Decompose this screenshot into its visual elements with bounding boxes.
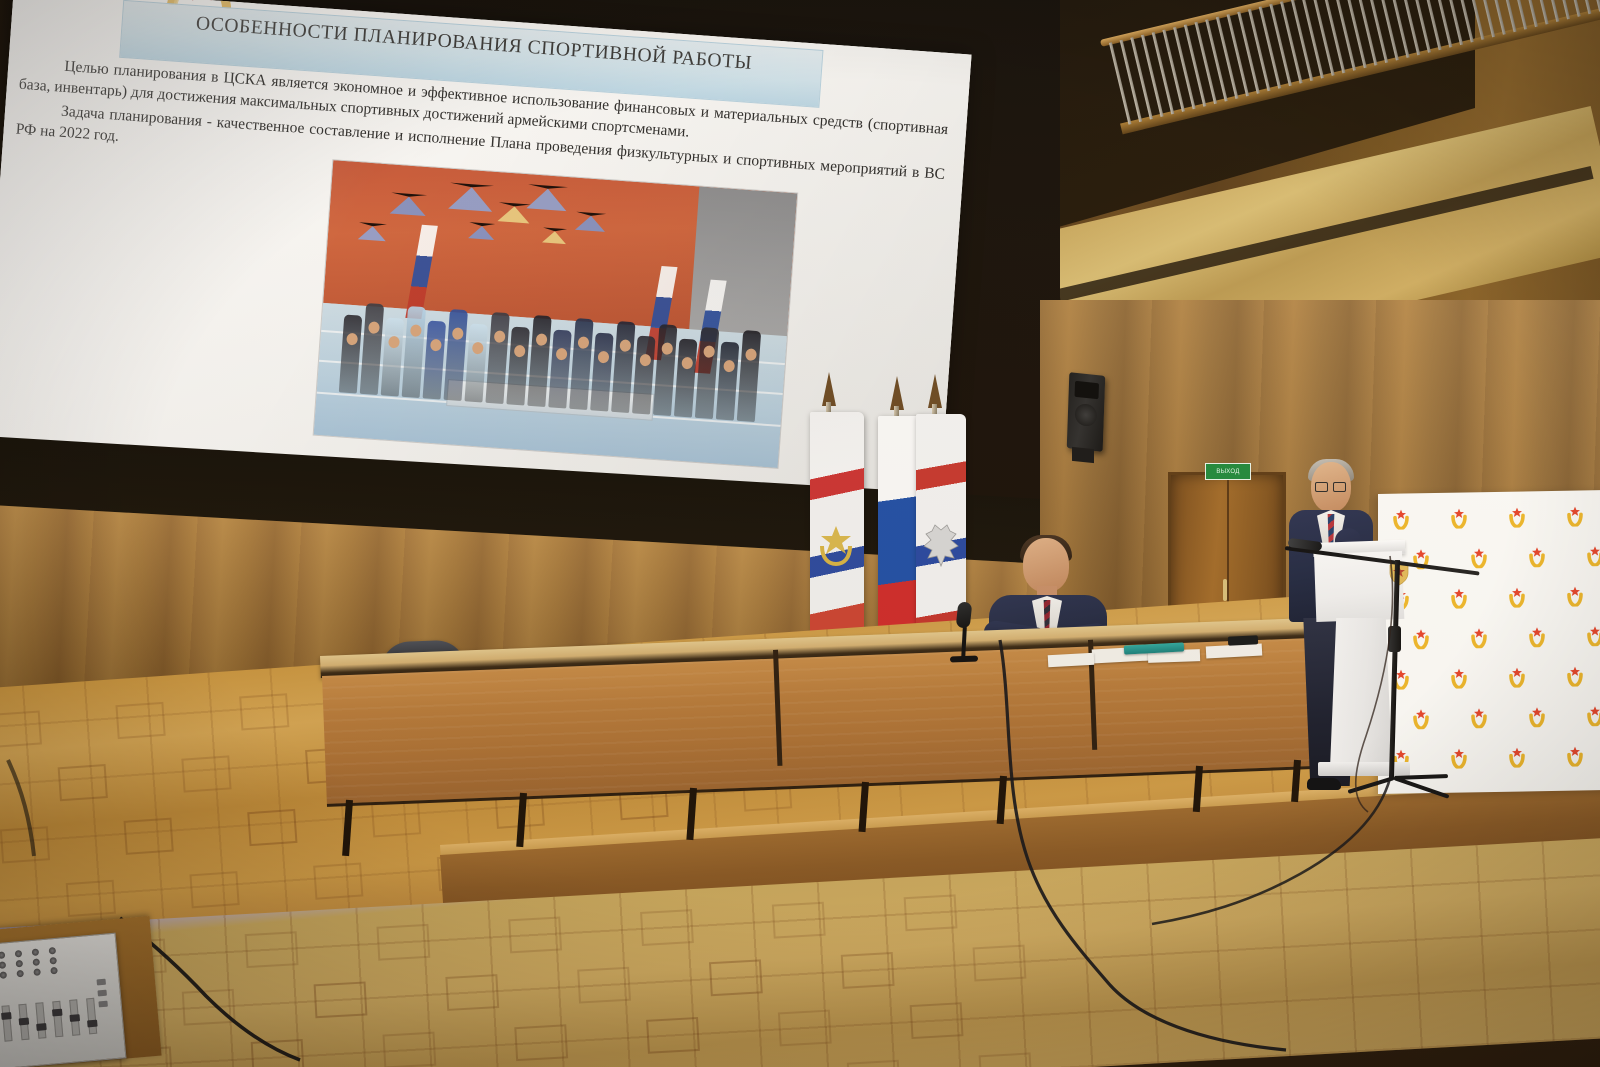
microphone-stand-clutch bbox=[1388, 626, 1401, 652]
backdrop-cska-emblem bbox=[1508, 507, 1526, 527]
backdrop-cska-emblem bbox=[1566, 586, 1584, 606]
door-handle[interactable] bbox=[1223, 579, 1227, 601]
photo-decor-triangle bbox=[390, 192, 427, 216]
photo-decor-triangle bbox=[542, 227, 567, 244]
railing-baluster bbox=[1227, 14, 1250, 96]
backdrop-cska-emblem bbox=[1470, 548, 1488, 568]
mixer-fader[interactable] bbox=[52, 1001, 63, 1038]
backdrop-cska-emblem bbox=[1470, 708, 1488, 728]
railing-baluster bbox=[1280, 1, 1303, 83]
parquet-inlay bbox=[841, 952, 895, 989]
parquet-inlay bbox=[239, 693, 289, 730]
backdrop-cska-emblem bbox=[1566, 666, 1584, 686]
photo-decor-triangle bbox=[448, 183, 494, 212]
flag-finial-1 bbox=[822, 372, 836, 406]
parquet-inlay bbox=[973, 945, 1027, 982]
railing-baluster bbox=[1162, 29, 1185, 111]
photo-decor-triangle bbox=[358, 222, 387, 241]
parquet-inlay bbox=[847, 1060, 901, 1067]
railing-baluster bbox=[1195, 22, 1218, 104]
backdrop-cska-emblem bbox=[1586, 546, 1600, 566]
mixer-button[interactable] bbox=[98, 1001, 107, 1008]
wall-loudspeaker bbox=[1067, 372, 1106, 452]
backdrop-cska-emblem bbox=[1412, 629, 1430, 649]
backdrop-cska-emblem bbox=[1470, 628, 1488, 648]
parquet-inlay bbox=[382, 1032, 436, 1067]
mixer-knob[interactable] bbox=[16, 970, 24, 978]
railing-baluster bbox=[1269, 4, 1292, 86]
railing-baluster bbox=[1130, 37, 1153, 119]
eyeglasses-icon bbox=[1315, 482, 1345, 490]
railing-baluster bbox=[1120, 40, 1143, 122]
backdrop-cska-emblem bbox=[1450, 748, 1468, 768]
mixer-knob[interactable] bbox=[33, 968, 41, 976]
photo-decor-triangle bbox=[468, 222, 495, 240]
parquet-inlay bbox=[66, 880, 116, 917]
mixer-knob[interactable] bbox=[15, 950, 23, 958]
parquet-inlay bbox=[577, 967, 631, 1004]
backdrop-cska-emblem bbox=[1450, 668, 1468, 688]
parquet-inlay bbox=[189, 871, 239, 908]
double-headed-eagle-emblem bbox=[920, 522, 962, 574]
podium-column bbox=[1330, 618, 1392, 768]
mixer-fader[interactable] bbox=[86, 998, 97, 1035]
parquet-inlay bbox=[709, 959, 763, 996]
railing-baluster bbox=[1301, 0, 1324, 78]
backdrop-cska-emblem bbox=[1508, 747, 1526, 767]
parquet-inlay bbox=[646, 1017, 700, 1054]
parquet-inlay bbox=[0, 826, 50, 863]
mixer-knob[interactable] bbox=[0, 961, 6, 969]
audio-mixer-console[interactable] bbox=[0, 933, 126, 1067]
railing-baluster bbox=[1173, 27, 1196, 109]
table-papers bbox=[1048, 653, 1095, 667]
mixer-knob[interactable] bbox=[49, 947, 57, 955]
parquet-inlay bbox=[508, 916, 562, 953]
parquet-inlay bbox=[245, 931, 299, 968]
backdrop-cska-emblem bbox=[1412, 709, 1430, 729]
seated-person-head bbox=[1023, 538, 1069, 592]
backdrop-cska-emblem bbox=[1508, 587, 1526, 607]
mixer-button[interactable] bbox=[97, 979, 106, 986]
speaker-cone bbox=[1075, 403, 1098, 427]
mixer-knob[interactable] bbox=[50, 967, 58, 975]
parquet-inlay bbox=[371, 800, 421, 837]
parquet-inlay bbox=[772, 902, 826, 939]
backdrop-cska-emblem bbox=[1392, 509, 1410, 529]
backdrop-cska-emblem bbox=[1566, 506, 1584, 526]
parquet-inlay bbox=[376, 924, 430, 961]
photo-decor-triangle bbox=[575, 212, 606, 232]
parquet-inlay bbox=[640, 909, 694, 946]
gold-star-wreath-emblem bbox=[814, 520, 858, 568]
parquet-inlay bbox=[251, 1039, 305, 1067]
parquet-inlay bbox=[314, 981, 368, 1018]
backdrop-cska-emblem bbox=[1528, 627, 1546, 647]
backdrop-cska-emblem bbox=[1450, 508, 1468, 528]
table-remote-device bbox=[1228, 635, 1258, 646]
railing-baluster bbox=[1205, 19, 1228, 101]
railing-baluster bbox=[1558, 0, 1581, 17]
mixer-knob[interactable] bbox=[32, 958, 40, 966]
parquet-inlay bbox=[910, 1002, 964, 1039]
railing-baluster bbox=[1184, 24, 1207, 106]
parquet-inlay bbox=[115, 702, 165, 739]
speaker-mount-bracket bbox=[1072, 447, 1094, 463]
backdrop-cska-emblem bbox=[1586, 626, 1600, 646]
mixer-knob[interactable] bbox=[32, 948, 40, 956]
parquet-inlay bbox=[904, 894, 958, 931]
backdrop-cska-emblem bbox=[1508, 667, 1526, 687]
parquet-inlay bbox=[182, 989, 236, 1026]
parquet-inlay bbox=[979, 1052, 1033, 1067]
railing-baluster bbox=[1312, 0, 1335, 76]
railing-baluster bbox=[1291, 0, 1314, 81]
railing-baluster bbox=[1237, 11, 1260, 93]
svg-text:ЦСКА: ЦСКА bbox=[187, 0, 213, 2]
mixer-button[interactable] bbox=[97, 990, 106, 997]
exit-sign-label: ВЫХОД bbox=[1216, 469, 1239, 475]
backdrop-cska-emblem bbox=[1566, 746, 1584, 766]
backdrop-cska-emblem bbox=[1528, 707, 1546, 727]
mixer-knob[interactable] bbox=[0, 971, 7, 979]
backdrop-cska-emblem bbox=[1450, 588, 1468, 608]
conference-hall-photo: ЦСКА ОСОБЕННОСТИ ПЛАНИРОВАНИЯ СПОРТИВНОЙ… bbox=[0, 0, 1600, 1067]
railing-baluster bbox=[1152, 32, 1175, 114]
mixer-fader[interactable] bbox=[1, 1005, 12, 1042]
photo-decor-triangle bbox=[526, 184, 568, 211]
parquet-inlay bbox=[181, 755, 231, 792]
press-wall-backdrop bbox=[1378, 490, 1600, 794]
table-microphone-base bbox=[950, 656, 978, 663]
speaker-horn bbox=[1075, 381, 1099, 400]
mixer-knob[interactable] bbox=[16, 960, 24, 968]
exit-sign: ВЫХОД bbox=[1205, 463, 1251, 480]
flag-finial-2 bbox=[890, 376, 904, 410]
mixer-fader[interactable] bbox=[18, 1004, 29, 1041]
parquet-inlay bbox=[58, 764, 108, 801]
parquet-inlay bbox=[445, 974, 499, 1011]
backdrop-cska-emblem bbox=[1528, 547, 1546, 567]
podium-base bbox=[1318, 762, 1410, 776]
backdrop-cska-emblem bbox=[1586, 706, 1600, 726]
flag-group bbox=[800, 372, 970, 662]
mixer-fader[interactable] bbox=[35, 1002, 46, 1039]
parquet-inlay bbox=[514, 1024, 568, 1061]
flag-finial-3 bbox=[928, 374, 942, 408]
mixer-knob[interactable] bbox=[0, 951, 5, 959]
railing-baluster bbox=[1216, 17, 1239, 99]
railing-baluster bbox=[1141, 35, 1164, 117]
mixer-knob[interactable] bbox=[49, 957, 57, 965]
parquet-inlay bbox=[313, 862, 363, 899]
slide-photo-award-ceremony bbox=[313, 159, 799, 469]
parquet-inlay bbox=[778, 1010, 832, 1047]
parquet-inlay bbox=[0, 710, 42, 747]
mixer-fader[interactable] bbox=[69, 999, 80, 1036]
speaker-shoe bbox=[1307, 778, 1341, 790]
parquet-inlay bbox=[247, 809, 297, 846]
parquet-inlay bbox=[124, 818, 174, 855]
railing-baluster bbox=[1248, 9, 1271, 91]
railing-baluster bbox=[1259, 6, 1282, 88]
